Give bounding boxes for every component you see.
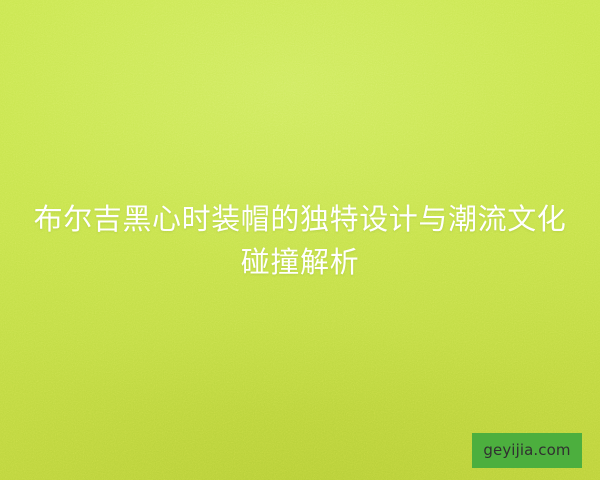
cover-title-line-2: 碰撞解析 (14, 241, 586, 284)
watermark-site-label: geyijia.com (483, 443, 570, 458)
cover-title: 布尔吉黑心时装帽的独特设计与潮流文化 碰撞解析 (0, 198, 600, 284)
watermark-badge[interactable]: geyijia.com (472, 433, 582, 468)
cover-title-line-1: 布尔吉黑心时装帽的独特设计与潮流文化 (14, 198, 586, 241)
article-cover-image: 布尔吉黑心时装帽的独特设计与潮流文化 碰撞解析 geyijia.com (0, 0, 600, 480)
